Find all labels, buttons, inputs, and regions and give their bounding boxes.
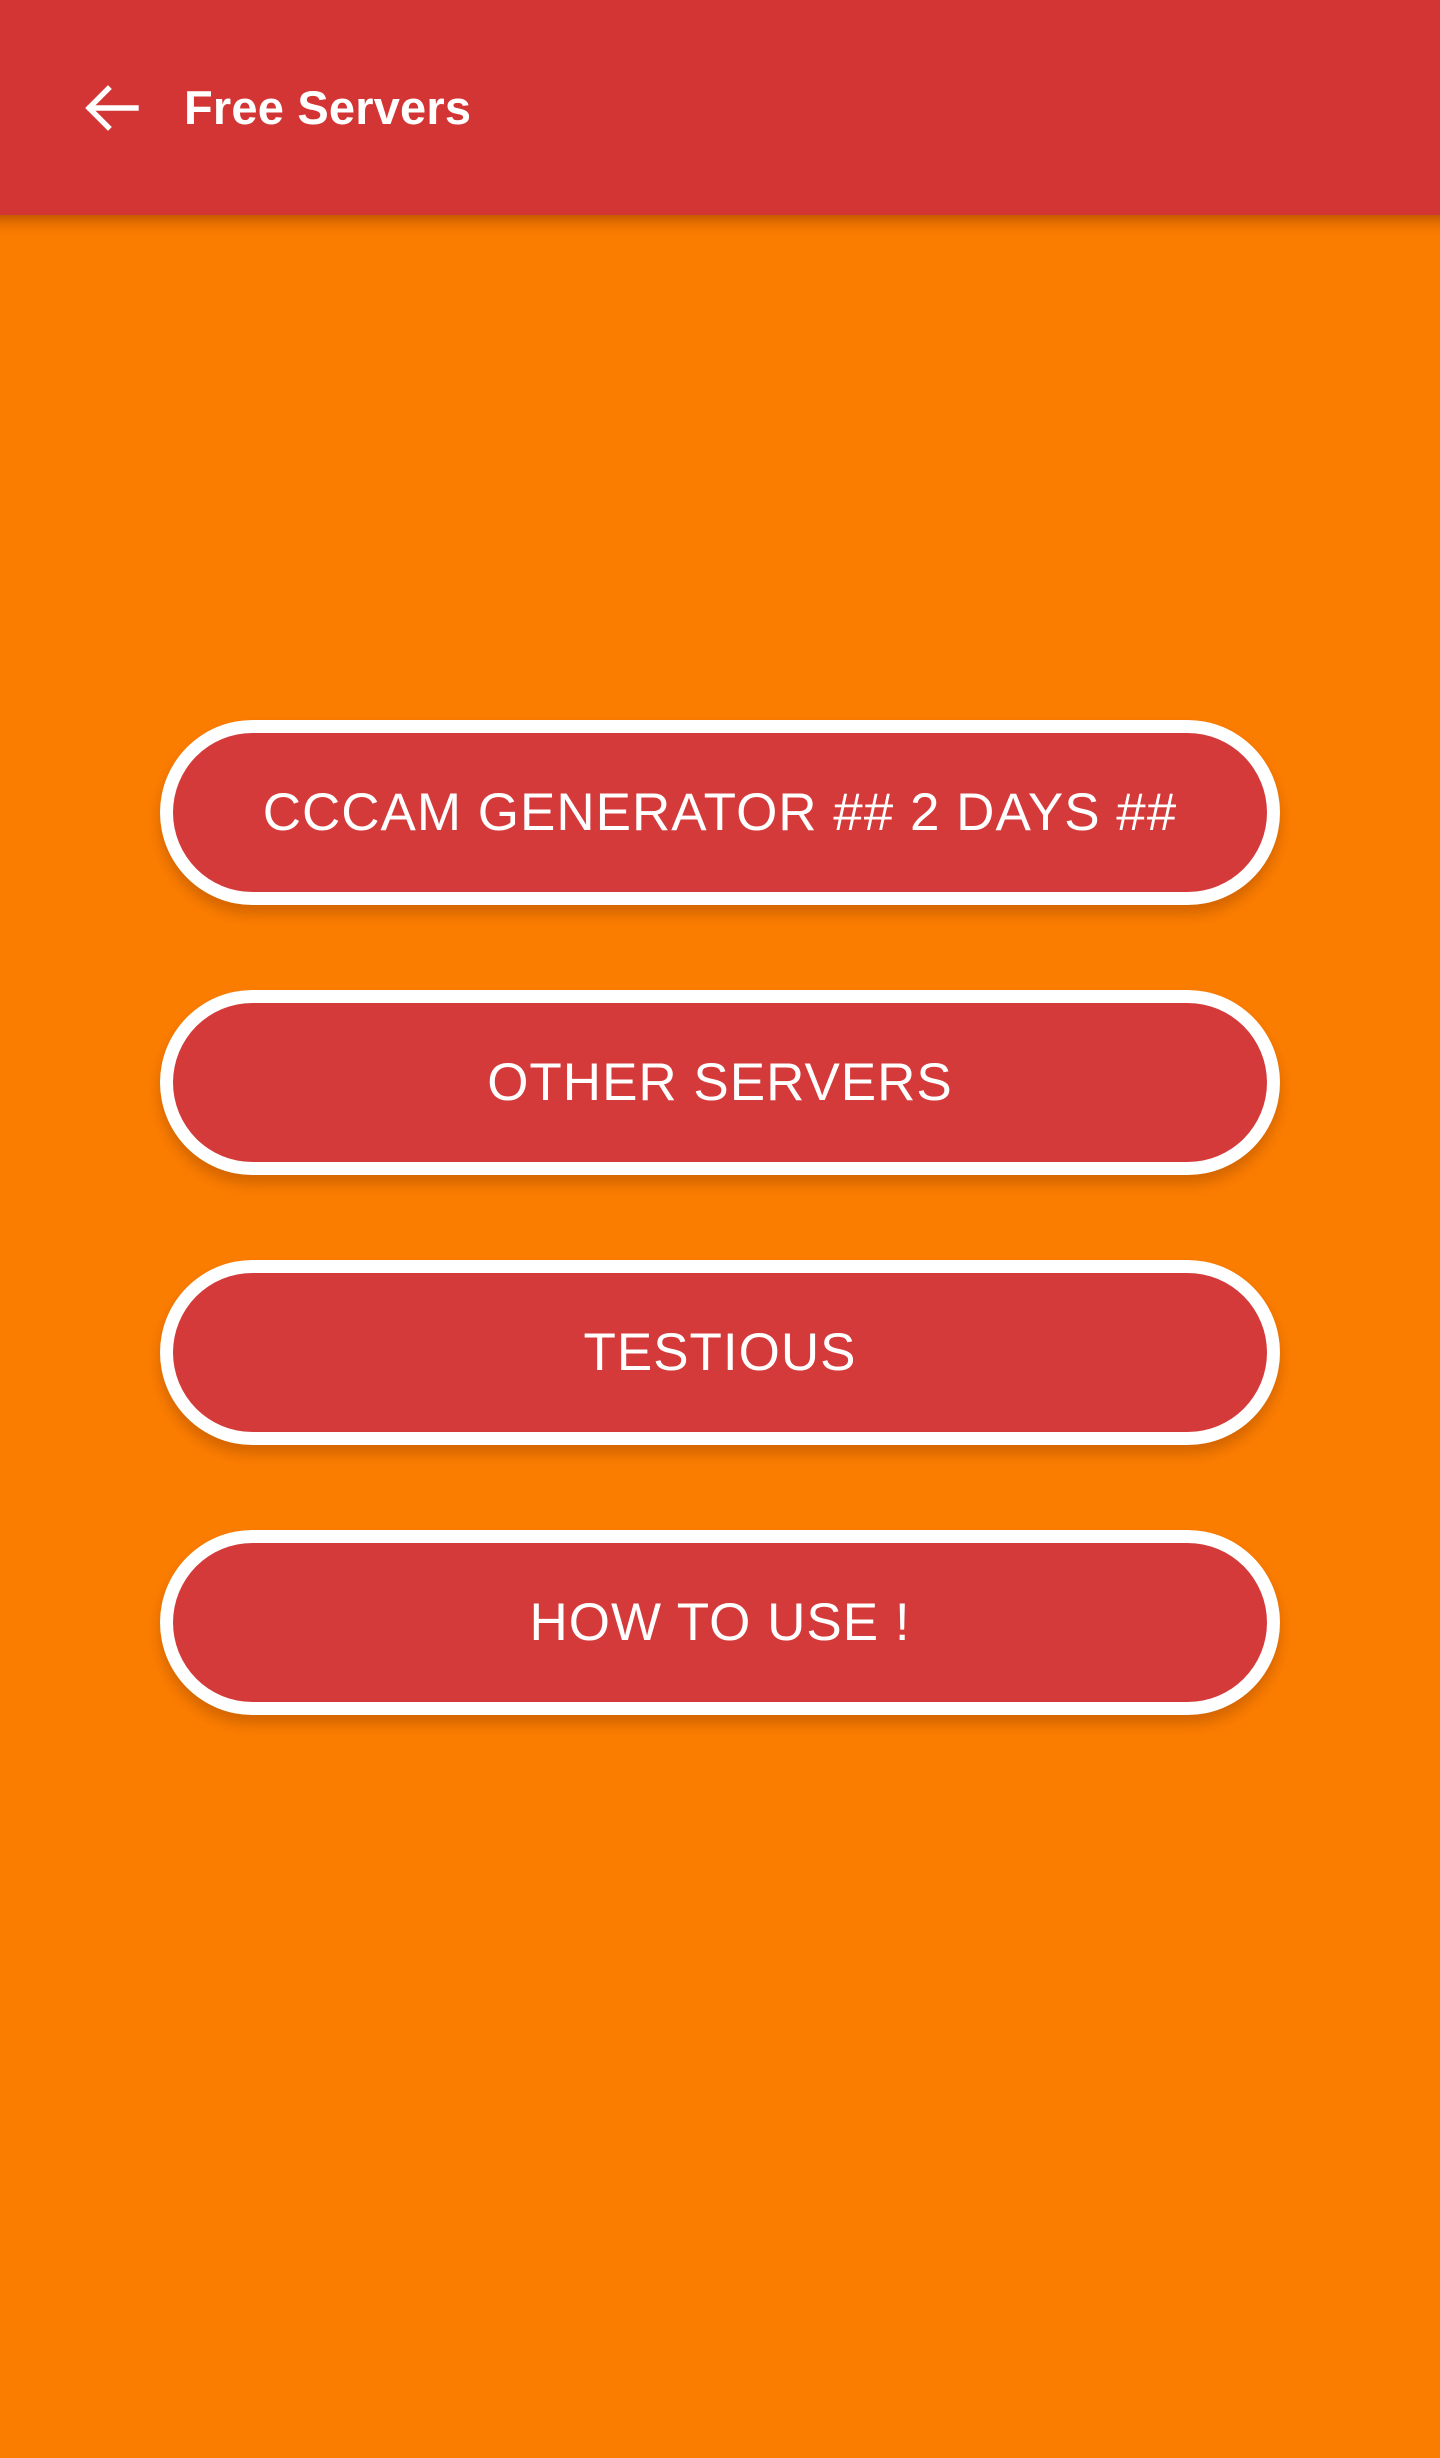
server-options-list: CCCAM GENERATOR ## 2 DAYS ## OTHER SERVE… bbox=[160, 720, 1280, 1715]
other-servers-button-face: OTHER SERVERS bbox=[173, 1003, 1267, 1162]
testious-button[interactable]: TESTIOUS bbox=[160, 1260, 1280, 1445]
back-button[interactable] bbox=[52, 49, 170, 167]
cccam-generator-button-face: CCCAM GENERATOR ## 2 DAYS ## bbox=[173, 733, 1267, 892]
arrow-left-icon bbox=[80, 77, 142, 139]
how-to-use-button-label: HOW TO USE ! bbox=[529, 1596, 910, 1649]
other-servers-button[interactable]: OTHER SERVERS bbox=[160, 990, 1280, 1175]
app-bar: Free Servers bbox=[0, 0, 1440, 215]
testious-button-face: TESTIOUS bbox=[173, 1273, 1267, 1432]
how-to-use-button[interactable]: HOW TO USE ! bbox=[160, 1530, 1280, 1715]
app-screen: Free Servers CCCAM GENERATOR ## 2 DAYS #… bbox=[0, 0, 1440, 2458]
cccam-generator-button-label: CCCAM GENERATOR ## 2 DAYS ## bbox=[263, 786, 1178, 839]
how-to-use-button-face: HOW TO USE ! bbox=[173, 1543, 1267, 1702]
testious-button-label: TESTIOUS bbox=[583, 1326, 856, 1379]
page-title: Free Servers bbox=[184, 84, 471, 131]
main-content: CCCAM GENERATOR ## 2 DAYS ## OTHER SERVE… bbox=[0, 215, 1440, 2458]
cccam-generator-button[interactable]: CCCAM GENERATOR ## 2 DAYS ## bbox=[160, 720, 1280, 905]
other-servers-button-label: OTHER SERVERS bbox=[487, 1056, 953, 1109]
